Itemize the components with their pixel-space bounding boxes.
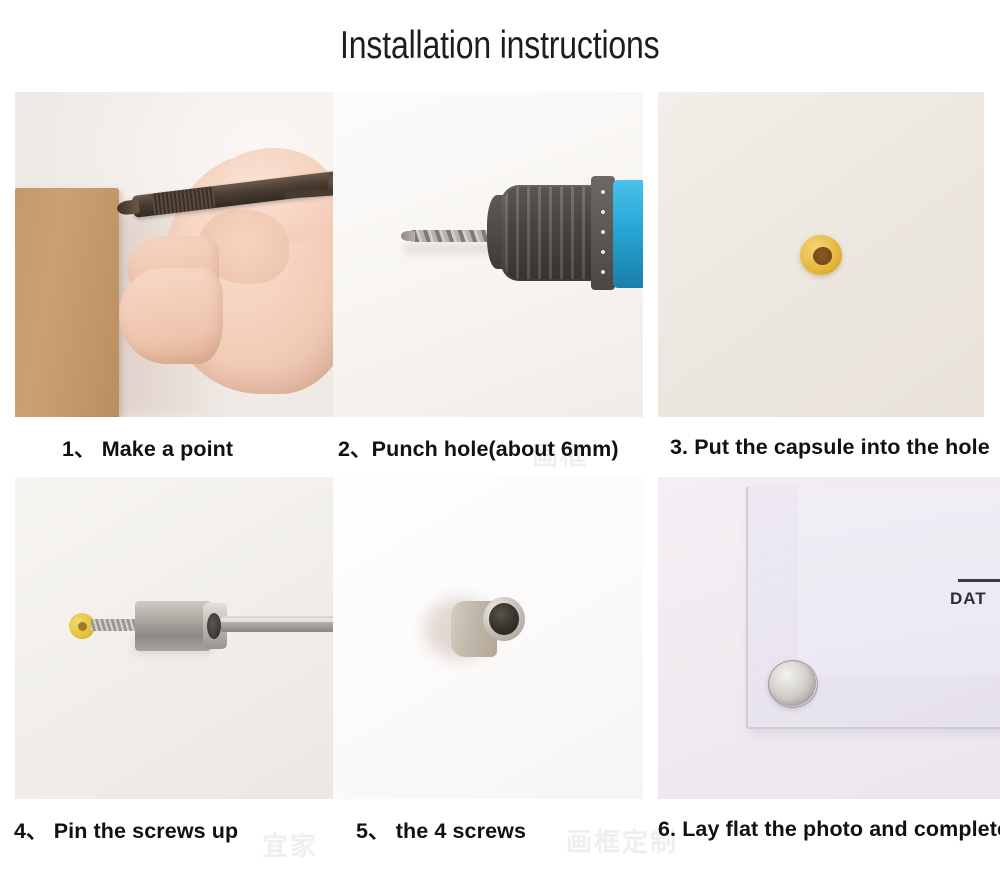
drill-torque-markings bbox=[595, 184, 613, 282]
drill-bit-icon bbox=[411, 230, 491, 242]
step-card-6: DAT 6. Lay flat the photo and complete bbox=[658, 477, 1000, 859]
drill-body-icon bbox=[613, 180, 643, 288]
anchor-bore-hole bbox=[78, 622, 87, 631]
step-card-4: 4、 Pin the screws up bbox=[0, 477, 333, 859]
wall-anchor-capsule-icon bbox=[800, 235, 842, 275]
step-card-1: 1、 Make a point bbox=[0, 92, 333, 477]
standoff-sleeve-icon bbox=[135, 601, 211, 651]
step-caption-2: 2、Punch hole(about 6mm) bbox=[333, 417, 658, 477]
step-card-2: 2、Punch hole(about 6mm) bbox=[333, 92, 658, 477]
step-caption-5: 5、 the 4 screws bbox=[333, 799, 658, 859]
drill-bit-tip bbox=[401, 231, 415, 241]
step-caption-3: 3. Put the capsule into the hole bbox=[658, 417, 1000, 477]
step-photo-2 bbox=[333, 92, 643, 417]
page-header: Installation instructions bbox=[0, 0, 1000, 92]
print-date-label: DAT bbox=[950, 589, 987, 609]
step-caption-1: 1、 Make a point bbox=[0, 417, 333, 477]
screw-thread-icon bbox=[91, 619, 139, 631]
drill-bit-shadow bbox=[403, 244, 493, 253]
steps-row-bottom: 4、 Pin the screws up 5、 the 4 screws DAT… bbox=[0, 477, 1000, 859]
step-photo-5 bbox=[333, 477, 643, 799]
step-caption-4: 4、 Pin the screws up bbox=[0, 799, 333, 859]
print-rule-line bbox=[958, 579, 1000, 582]
step-caption-6: 6. Lay flat the photo and complete bbox=[658, 799, 1000, 859]
page-title: Installation instructions bbox=[340, 24, 659, 68]
pen-tip bbox=[116, 199, 140, 216]
step-photo-1 bbox=[15, 92, 333, 417]
socket-driver-bore bbox=[207, 613, 221, 639]
driver-shaft-highlight bbox=[221, 618, 333, 622]
middle-finger-shape bbox=[119, 268, 223, 364]
steps-row-top: 1、 Make a point 2、Punch hole(about 6mm) … bbox=[0, 92, 1000, 477]
drill-chuck-ribs bbox=[505, 187, 603, 279]
step-card-3: 3. Put the capsule into the hole bbox=[658, 92, 1000, 477]
step-card-5: 5、 the 4 screws bbox=[333, 477, 658, 859]
anchor-bore-hole bbox=[813, 247, 832, 265]
standoff-socket-recess bbox=[489, 603, 519, 635]
step-photo-3 bbox=[658, 92, 984, 417]
standoff-cap-rim bbox=[768, 660, 818, 708]
step-photo-4 bbox=[15, 477, 333, 799]
step-photo-6: DAT bbox=[658, 477, 1000, 799]
kraft-template-card-icon bbox=[15, 188, 119, 417]
